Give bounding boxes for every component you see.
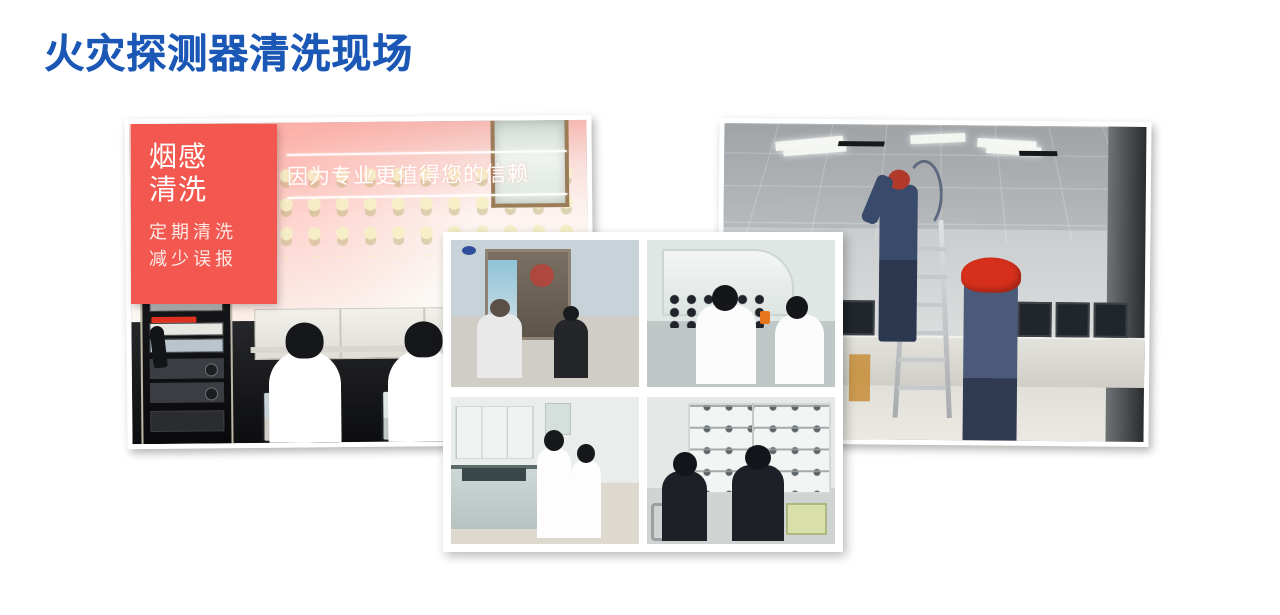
- page-title: 火灾探测器清洗现场: [44, 30, 413, 78]
- control-rack: [140, 290, 233, 444]
- lab-technician-1: [696, 305, 756, 384]
- ladder-rung-6: [898, 386, 946, 390]
- washing-technician-2: [571, 459, 601, 538]
- ceiling-vent-1: [838, 141, 886, 147]
- washing-technician-1: [537, 447, 571, 538]
- right-wall-column: [1106, 127, 1147, 442]
- lab-technician-2: [775, 314, 824, 385]
- tool-handle: [760, 311, 770, 324]
- collage-photo-3: [451, 397, 639, 544]
- operator-1: [662, 471, 707, 542]
- wash-sink: [462, 468, 526, 481]
- collage-photo-1: [451, 240, 639, 387]
- red-safety-helmet: [961, 258, 1020, 293]
- collage-photo-2: [647, 240, 835, 387]
- rack-knob-a: [205, 363, 218, 376]
- badge-subtext: 定期清洗 减少误报: [149, 219, 277, 273]
- operator-2: [732, 465, 785, 541]
- wooden-chair: [848, 354, 870, 401]
- technician-left: [269, 350, 342, 443]
- ladder-rung-5: [899, 358, 947, 362]
- badge-heading-line-2: 清洗: [149, 173, 277, 206]
- promo-badge: 烟感 清洗 定期清洗 减少误报: [131, 124, 277, 304]
- poster-root: 火灾探测器清洗现场: [0, 0, 1280, 615]
- left-photo-caption-block: 因为专业更值得您的信赖: [287, 150, 568, 199]
- badge-heading-line-1: 烟感: [149, 140, 277, 173]
- collage-grid: [451, 240, 835, 544]
- wall-cabinet: [455, 406, 534, 459]
- collage-photo-4: [647, 397, 835, 544]
- rack-module-base: [150, 410, 224, 432]
- person-inspecting: [477, 314, 522, 379]
- left-photo-caption: 因为专业更值得您的信赖: [287, 152, 568, 197]
- worker-on-ladder: [879, 184, 918, 342]
- console-screen-3: [1056, 303, 1090, 338]
- console-screen-4: [1094, 303, 1128, 338]
- supervisor-worker: [962, 276, 1018, 440]
- wall-sign-icon: [462, 246, 476, 255]
- badge-subtext-line-2: 减少误报: [149, 246, 277, 273]
- ceiling-vent-2: [1019, 151, 1058, 156]
- test-instrument: [786, 503, 827, 535]
- console-screen-1: [841, 301, 875, 336]
- center-collage-card: [443, 232, 843, 552]
- badge-heading: 烟感 清洗: [149, 140, 277, 206]
- console-screen-2: [1018, 302, 1052, 337]
- person-assisting: [554, 319, 588, 378]
- badge-subtext-line-1: 定期清洗: [149, 219, 277, 246]
